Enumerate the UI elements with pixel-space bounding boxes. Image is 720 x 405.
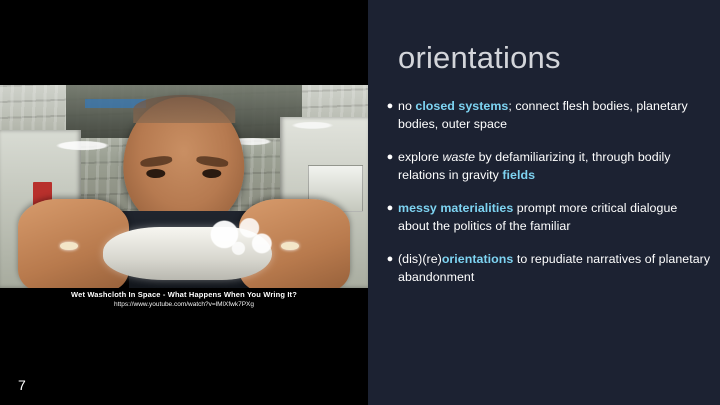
page-title: orientations [398,40,561,76]
water-droplet-right [281,242,299,250]
text-segment: explore [398,150,442,164]
text-segment: (dis)(re) [398,252,442,266]
astronaut-eye-left [146,169,165,178]
highlighted-term: messy materialities [398,201,513,215]
text-segment: no [398,99,415,113]
highlighted-term: orientations [442,252,514,266]
slide-left-media-panel: Wet Washcloth In Space - What Happens Wh… [0,0,368,405]
astronaut-eye-right [202,169,221,178]
bullet-dot-icon: ● [382,98,398,133]
list-item-text: (dis)(re)orientations to repudiate narra… [398,251,712,286]
list-item-text: explore waste by defamiliarizing it, thr… [398,149,712,184]
list-item: ●messy materialities prompt more critica… [382,200,712,235]
bullet-list: ●no closed systems; connect flesh bodies… [382,98,712,302]
video-still[interactable] [0,85,368,288]
video-caption: Wet Washcloth In Space - What Happens Wh… [0,289,368,310]
list-item: ●explore waste by defamiliarizing it, th… [382,149,712,184]
list-item: ●(dis)(re)orientations to repudiate narr… [382,251,712,286]
video-caption-title: Wet Washcloth In Space - What Happens Wh… [0,289,368,300]
list-item-text: messy materialities prompt more critical… [398,200,712,235]
highlighted-term: closed systems [415,99,508,113]
astronaut-head [123,97,244,227]
slide-right-content-panel: orientations ●no closed systems; connect… [368,0,720,405]
wet-washcloth [103,227,272,280]
astronaut-hair [133,95,235,124]
list-item: ●no closed systems; connect flesh bodies… [382,98,712,133]
list-item-text: no closed systems; connect flesh bodies,… [398,98,712,133]
bullet-dot-icon: ● [382,200,398,235]
astronaut-brow-left [140,155,173,168]
bullet-dot-icon: ● [382,149,398,184]
water-droplet-left [60,242,78,250]
bullet-dot-icon: ● [382,251,398,286]
highlighted-term: fields [502,168,535,182]
video-caption-url[interactable]: https://www.youtube.com/watch?v=lMlXfwk7… [0,300,368,310]
emphasized-term: waste [442,150,475,164]
water-bubbles [201,218,279,259]
astronaut-brow-right [196,155,229,168]
page-number: 7 [18,377,26,393]
